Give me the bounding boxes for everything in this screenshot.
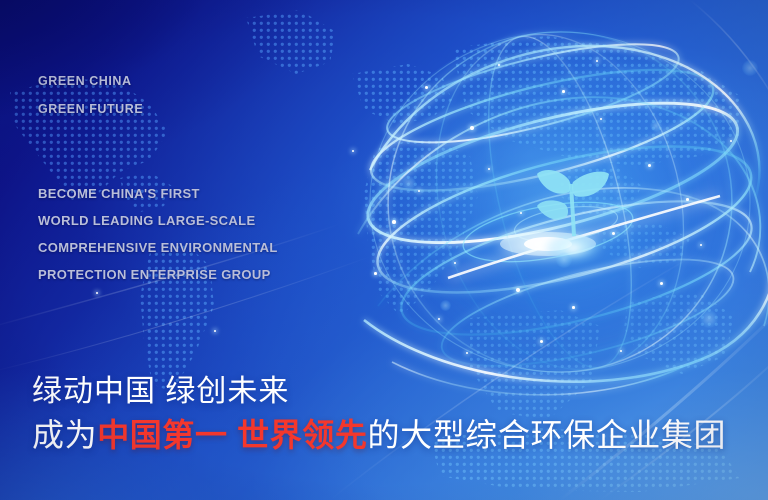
banner-image: GREEN CHINA GREEN FUTURE BECOME CHINA'S … <box>0 0 768 500</box>
vignette-overlay <box>0 0 768 500</box>
